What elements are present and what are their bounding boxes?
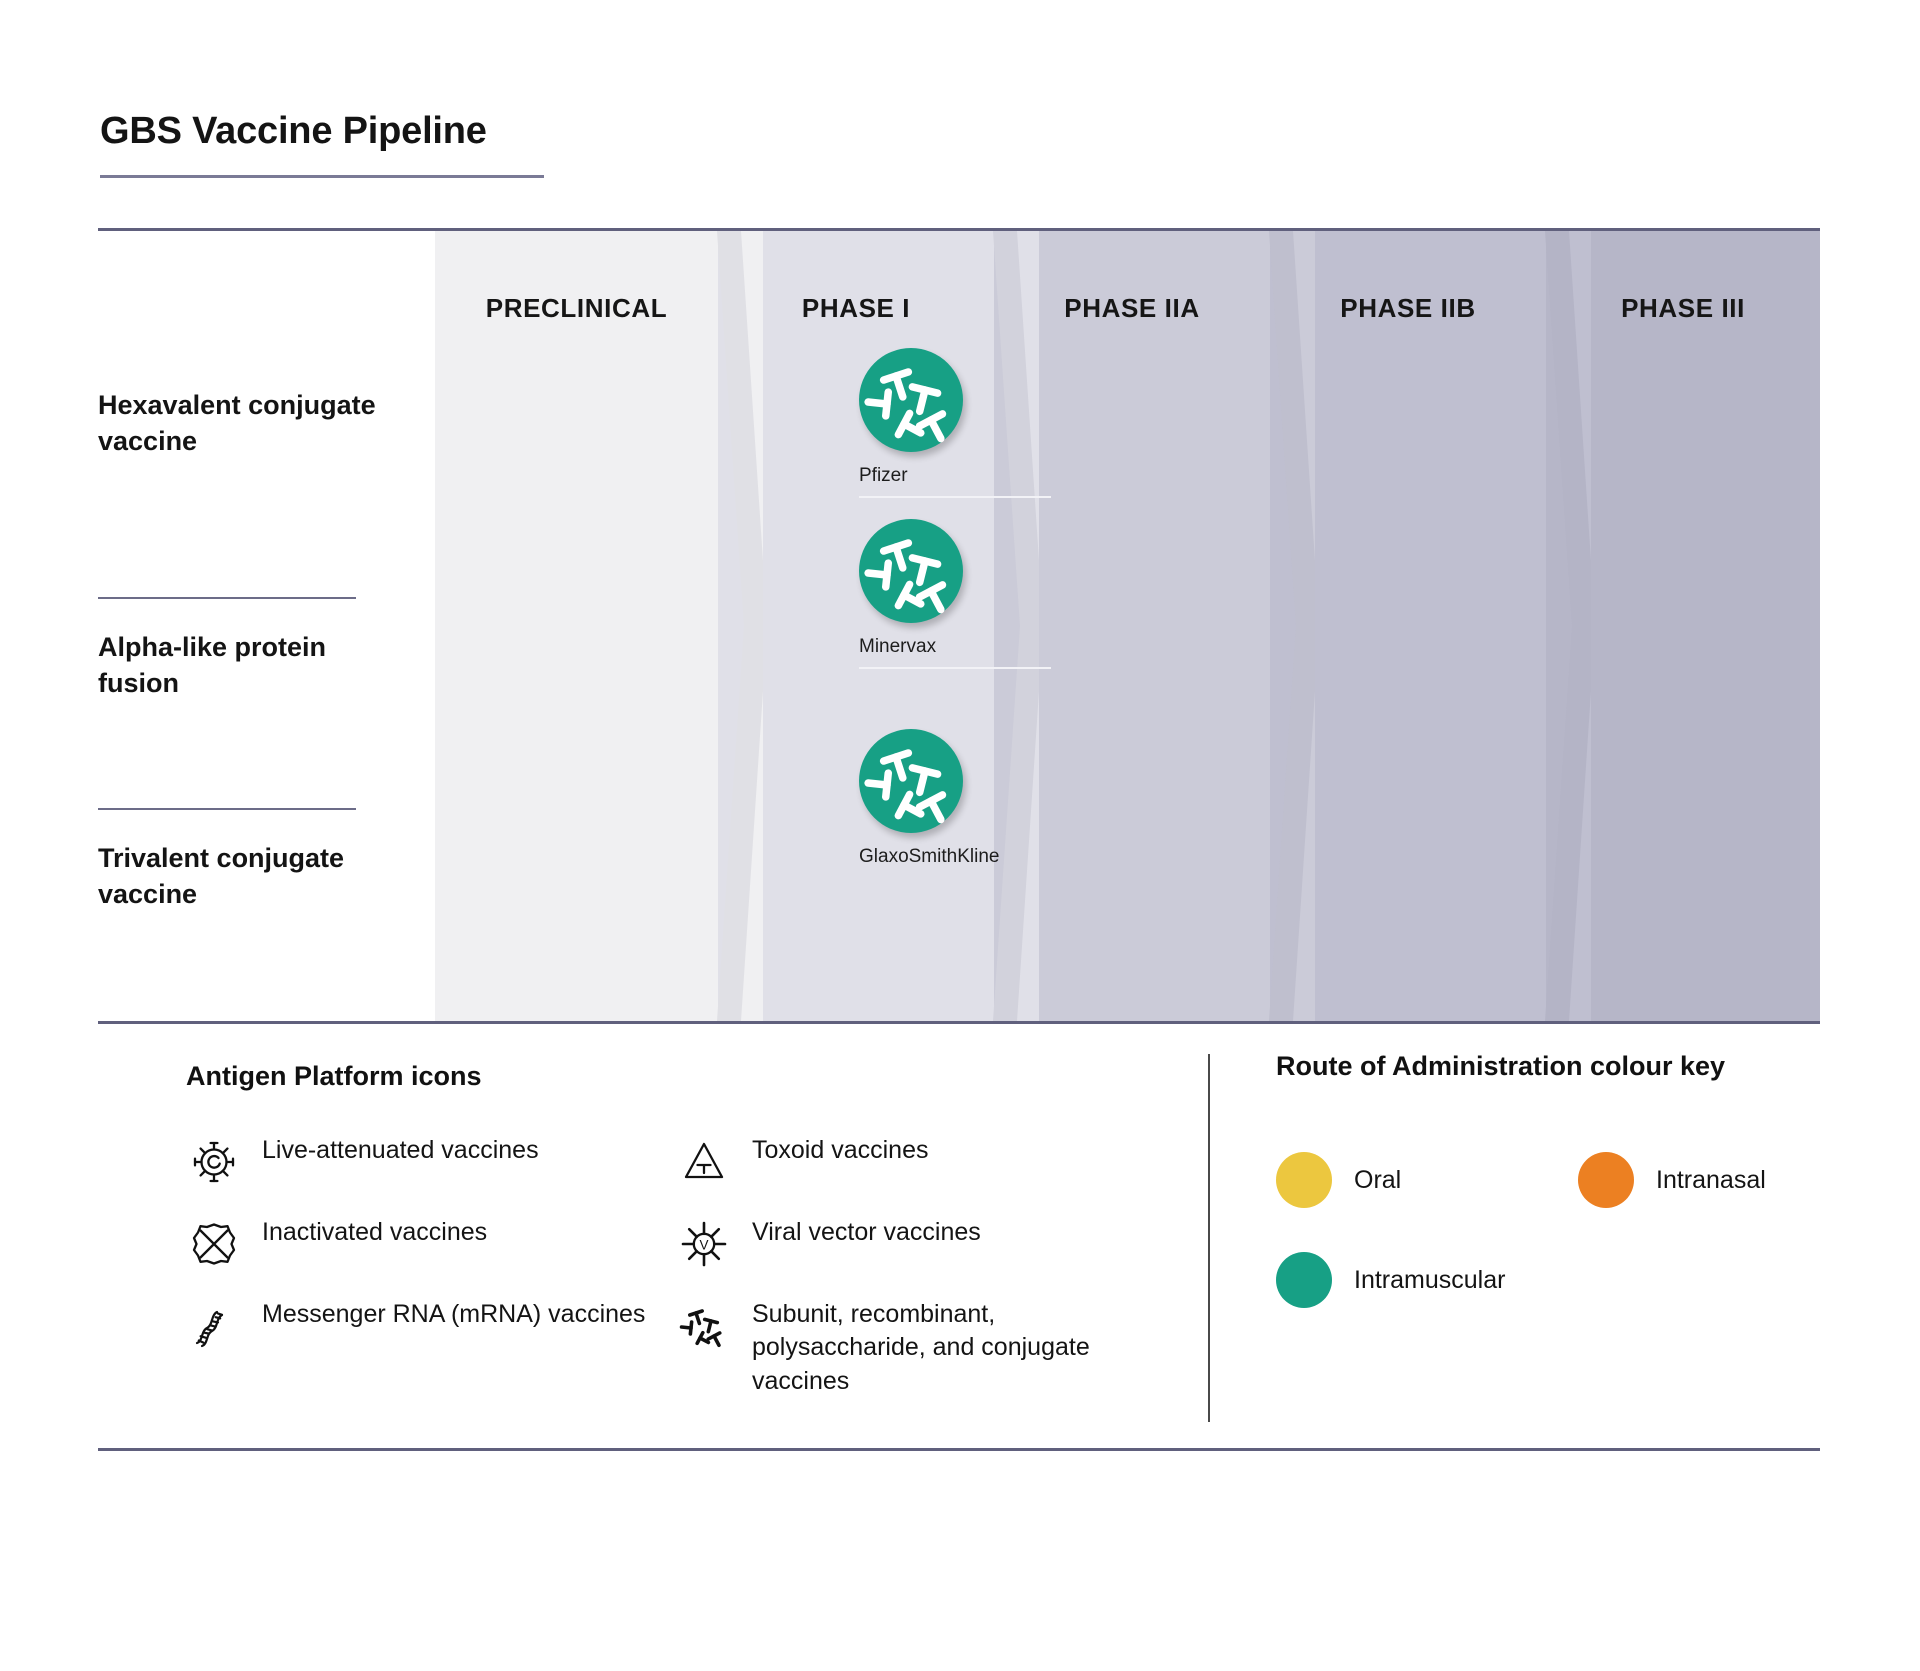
pipeline-entry-pfizer[interactable]: Pfizer <box>859 348 1051 498</box>
pipeline-entry-minervax[interactable]: Minervax <box>859 519 1051 669</box>
legend-label: Live-attenuated vaccines <box>262 1134 539 1167</box>
route-circle-intramuscular <box>859 348 963 452</box>
row-label-alpha-like-protein-fusion: Alpha-like protein fusion <box>98 630 398 702</box>
entry-company-name: Minervax <box>859 636 1051 658</box>
route-swatch-intramuscular <box>1276 1252 1332 1308</box>
legend-bottom-rule <box>98 1448 1820 1451</box>
legend-item-viral-vector: V Viral vector vaccines <box>676 1216 1156 1272</box>
legend-label: Toxoid vaccines <box>752 1134 928 1167</box>
legend-label: Inactivated vaccines <box>262 1216 487 1249</box>
title-underline <box>100 175 544 178</box>
phase-columns: PRECLINICAL PHASE I PHASE IIA <box>435 231 1820 1021</box>
phase-column-background <box>1270 231 1546 1021</box>
entry-divider <box>859 496 1051 498</box>
viral-vector-icon: V <box>676 1216 732 1272</box>
pipeline-figure: GBS Vaccine Pipeline PRECLINICAL PHASE I <box>0 0 1920 1671</box>
pipeline-chart: PRECLINICAL PHASE I PHASE IIA <box>98 231 1820 1021</box>
phase-column-phase-iii[interactable]: PHASE III <box>1546 231 1820 1021</box>
legend-label: Viral vector vaccines <box>752 1216 981 1249</box>
title-block: GBS Vaccine Pipeline <box>100 110 544 178</box>
legend-item-subunit: Subunit, recombinant, polysaccharide, an… <box>676 1298 1156 1398</box>
triangle-t-icon <box>676 1134 732 1190</box>
legend-label: Messenger RNA (mRNA) vaccines <box>262 1298 645 1331</box>
x-hexagon-icon <box>186 1216 242 1272</box>
route-circle-intramuscular <box>859 729 963 833</box>
phase-column-preclinical[interactable]: PRECLINICAL <box>435 231 718 1021</box>
row-label-hexavalent-conjugate-vaccine: Hexavalent conjugate vaccine <box>98 388 398 460</box>
phase-column-phase-iib[interactable]: PHASE IIB <box>1270 231 1546 1021</box>
legend-label: Subunit, recombinant, polysaccharide, an… <box>752 1298 1156 1398</box>
legend-item-route-intranasal: Intranasal <box>1578 1152 1766 1208</box>
subunit-icon <box>859 729 963 833</box>
subunit-icon <box>676 1298 732 1354</box>
route-swatch-oral <box>1276 1152 1332 1208</box>
page-title: GBS Vaccine Pipeline <box>100 110 544 153</box>
legend-item-live-attenuated: Live-attenuated vaccines <box>186 1134 656 1190</box>
entry-company-name: GlaxoSmithKline <box>859 846 999 868</box>
row-label-trivalent-conjugate-vaccine: Trivalent conjugate vaccine <box>98 841 398 913</box>
phase-label: PHASE III <box>1546 293 1820 324</box>
route-swatch-intranasal <box>1578 1152 1634 1208</box>
entry-company-name: Pfizer <box>859 465 1051 487</box>
antigen-platform-heading: Antigen Platform icons <box>186 1059 706 1094</box>
legend-item-route-intramuscular: Intramuscular <box>1276 1252 1505 1308</box>
legend-item-route-oral: Oral <box>1276 1152 1401 1208</box>
legend: Antigen Platform icons Live-attenuated v… <box>98 1024 1820 1448</box>
svg-text:V: V <box>699 1237 708 1252</box>
subunit-icon <box>859 348 963 452</box>
pipeline-entry-glaxosmithkline[interactable]: GlaxoSmithKline <box>859 729 999 868</box>
dna-helix-icon <box>186 1298 242 1354</box>
legend-item-inactivated: Inactivated vaccines <box>186 1216 656 1272</box>
route-circle-intramuscular <box>859 519 963 623</box>
legend-column-divider <box>1208 1054 1210 1422</box>
row-divider <box>98 597 356 599</box>
phase-column-background <box>1546 231 1820 1021</box>
phase-label: PHASE IIB <box>1270 293 1546 324</box>
phase-label: PHASE I <box>718 293 994 324</box>
subunit-icon <box>859 519 963 623</box>
phase-label: PRECLINICAL <box>435 293 718 324</box>
route-label: Oral <box>1354 1152 1401 1208</box>
route-label: Intramuscular <box>1354 1252 1505 1308</box>
entry-divider <box>859 667 1051 669</box>
virus-icon <box>186 1134 242 1190</box>
phase-column-background <box>435 231 718 1021</box>
route-label: Intranasal <box>1656 1152 1766 1208</box>
row-divider <box>98 808 356 810</box>
legend-item-toxoid: Toxoid vaccines <box>676 1134 1156 1190</box>
route-of-administration-heading: Route of Administration colour key <box>1276 1049 1736 1084</box>
legend-item-mrna: Messenger RNA (mRNA) vaccines <box>186 1298 656 1354</box>
phase-label: PHASE IIA <box>994 293 1270 324</box>
